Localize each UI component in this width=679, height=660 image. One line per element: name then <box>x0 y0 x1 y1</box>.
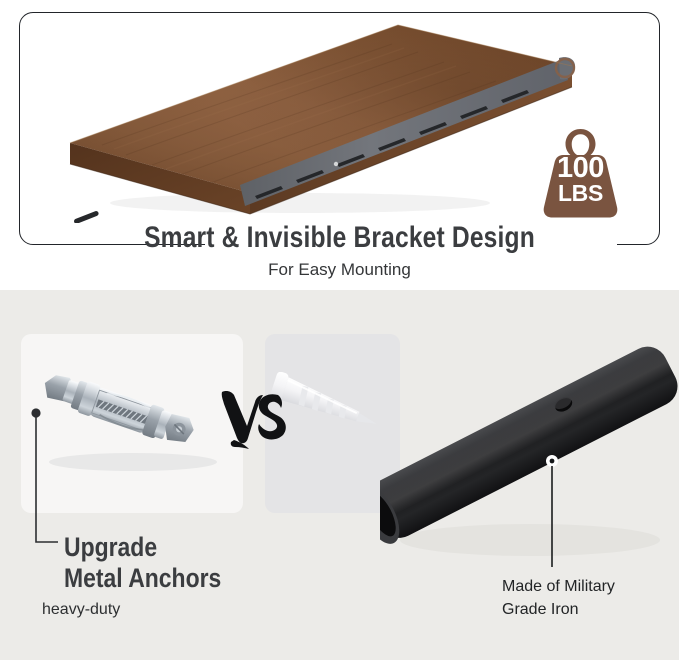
weight-capacity-badge: 100 LBS <box>533 127 628 223</box>
callout-metal-anchors: Upgrade Metal Anchors heavy-duty <box>24 400 284 640</box>
floating-shelf-illustration <box>40 18 600 223</box>
callout-right-label: Made of Military Grade Iron <box>502 575 615 621</box>
section-subheadline: For Easy Mounting <box>0 259 679 281</box>
bracket-design-section: 100 LBS Smart & Invisible Bracket Design… <box>0 0 679 290</box>
product-infographic: 100 LBS Smart & Invisible Bracket Design… <box>0 0 679 660</box>
callout-left-subtitle: heavy-duty <box>42 600 120 620</box>
section-headline: Smart & Invisible Bracket Design <box>61 219 618 257</box>
callout-left-title: Upgrade Metal Anchors <box>64 532 221 594</box>
callout-military-grade-iron: Made of Military Grade Iron <box>496 455 671 625</box>
